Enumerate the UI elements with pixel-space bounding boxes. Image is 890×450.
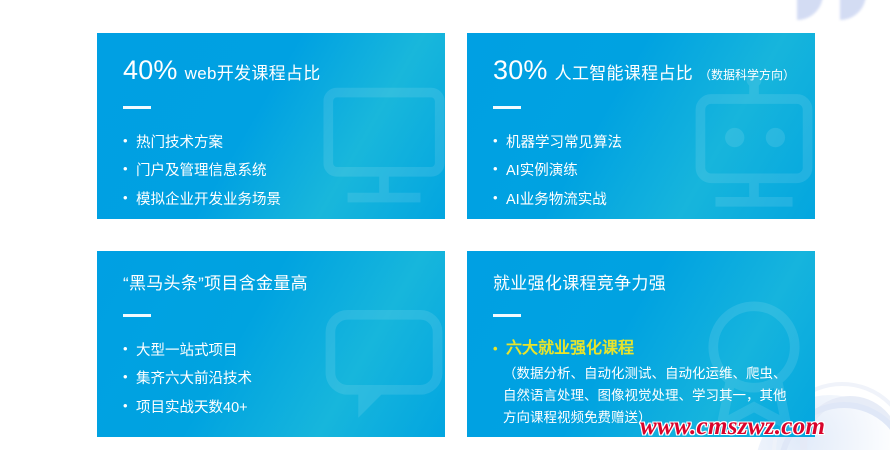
card-ai-course-ratio[interactable]: 30% 人工智能课程占比 （数据科学方向） 机器学习常见算法 AI实例演练 AI… [467, 33, 815, 219]
card-percent: 40% [123, 57, 178, 84]
card-web-development-ratio[interactable]: 40% web开发课程占比 热门技术方案 门户及管理信息系统 模拟企业开发业务场… [97, 33, 445, 219]
card-title-note: （数据科学方向） [699, 69, 795, 81]
list-item: 机器学习常见算法 [493, 129, 789, 157]
card-title-text: “黑马头条”项目含金量高 [123, 275, 308, 292]
card-title-text: web开发课程占比 [185, 65, 321, 82]
title-divider [123, 314, 151, 317]
card-title-text: 人工智能课程占比 [555, 65, 693, 82]
title-divider [123, 106, 151, 109]
list-item-highlight: 六大就业强化课程 [493, 337, 789, 361]
card-heima-toutiao-project[interactable]: “黑马头条”项目含金量高 大型一站式项目 集齐六大前沿技术 项目实战天数40+ [97, 251, 445, 437]
site-watermark: www.cmszwz.com [640, 413, 825, 441]
list-item: 大型一站式项目 [123, 337, 419, 365]
list-item: 热门技术方案 [123, 129, 419, 157]
list-item: 集齐六大前沿技术 [123, 365, 419, 393]
card-bullet-list: 六大就业强化课程 [493, 337, 789, 361]
title-divider [493, 314, 521, 317]
card-employment-boost-courses[interactable]: 就业强化课程竞争力强 六大就业强化课程 （数据分析、自动化测试、自动化运维、爬虫… [467, 251, 815, 437]
card-title: 40% web开发课程占比 [123, 55, 419, 84]
quote-mark-decoration-left [797, 0, 823, 20]
card-bullet-list: 大型一站式项目 集齐六大前沿技术 项目实战天数40+ [123, 337, 419, 422]
title-divider [493, 106, 521, 109]
card-title: 就业强化课程竞争力强 [493, 273, 789, 292]
list-item: 项目实战天数40+ [123, 394, 419, 422]
card-title: “黑马头条”项目含金量高 [123, 273, 419, 292]
card-bullet-list: 热门技术方案 门户及管理信息系统 模拟企业开发业务场景 [123, 129, 419, 214]
card-percent: 30% [493, 57, 548, 84]
card-title-text: 就业强化课程竞争力强 [493, 275, 666, 292]
list-item: AI业务物流实战 [493, 186, 789, 214]
list-item: 门户及管理信息系统 [123, 157, 419, 185]
list-item: 模拟企业开发业务场景 [123, 186, 419, 214]
quote-mark-decoration-right [840, 0, 866, 20]
list-item: AI实例演练 [493, 157, 789, 185]
card-title: 30% 人工智能课程占比 （数据科学方向） [493, 55, 789, 84]
feature-card-grid: 40% web开发课程占比 热门技术方案 门户及管理信息系统 模拟企业开发业务场… [97, 33, 815, 437]
card-bullet-list: 机器学习常见算法 AI实例演练 AI业务物流实战 [493, 129, 789, 214]
